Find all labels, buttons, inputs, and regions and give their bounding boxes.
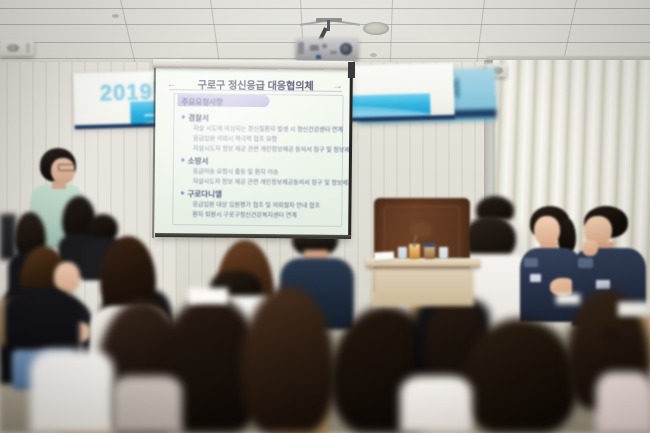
cup-lid <box>423 243 436 247</box>
iced-coffee-cup <box>424 245 435 259</box>
slide-bullet: 구로다니엘 <box>181 188 222 199</box>
hair-clip <box>602 330 618 337</box>
ceiling-projector <box>296 38 358 60</box>
officer-shoulder-patch <box>578 258 593 268</box>
meeting-room-photo: 운영회의 구로구정신건강복지센터 2019년 구 2 ← 구로구 정신응급 대응… <box>0 0 650 433</box>
attendee-torso <box>30 350 114 433</box>
slide-bullet: 자살시도자 정보 제공 관련 개인정보제공동의서 징구 및 정보제공 <box>193 176 352 187</box>
officer-badge <box>596 280 610 289</box>
screen-housing-cap <box>348 62 355 78</box>
officer-hand-at-chin <box>582 240 598 256</box>
presenter-glasses <box>58 164 75 171</box>
slide-bullet: 경찰서 <box>181 112 209 123</box>
slide-bullet: 응급입원 대상 입원평가 협조 및 의뢰절차 안내 협조 <box>192 199 320 209</box>
paper-sheet <box>556 294 580 304</box>
podium-front-panel <box>372 266 474 306</box>
slide-bullet: 응급입원 의뢰시 적극적 협조 요청 <box>193 133 277 143</box>
attendee-torso <box>112 376 182 433</box>
slide-bullet: 자살시도자 정보 제공 관련 개인정보제공 동의서 징구 및 정보제공 <box>193 143 352 154</box>
water-cup <box>398 247 407 259</box>
podium-crest <box>410 222 432 238</box>
ceiling-speaker-left <box>0 40 34 56</box>
slide-bullet: 소방서 <box>181 155 209 166</box>
side-monitor <box>0 214 16 260</box>
projection-screen: ← 구로구 정신응급 대응협의체 → 주요요청사항 경찰서 자살 시도에 의심되… <box>154 67 352 239</box>
ceiling-air-vent <box>363 22 389 35</box>
paper-sheet <box>374 251 394 260</box>
paper-sheet <box>618 302 650 316</box>
water-cup <box>439 247 448 259</box>
presenter-neck <box>52 181 66 189</box>
slide-bullet: 환자 퇴원시 구로구정신건강복지센터 연계 <box>192 209 296 219</box>
officer-shoulder-patch <box>524 258 538 267</box>
slide-section-header: 주요요청사항 <box>181 96 223 107</box>
projector-lens <box>340 43 352 55</box>
slide-bullet: 응급이송 요청시 출동 및 환자 이송 <box>193 166 279 176</box>
attendee-torso <box>596 372 650 433</box>
officer-badge <box>530 274 541 282</box>
notebook-page <box>188 288 228 304</box>
slide-bullet: 자살 시도에 의심되는 정신질환자 발생 시 정신건강센터 연계 <box>193 123 343 134</box>
officer-ponytail <box>558 218 576 252</box>
attendee-torso <box>400 376 472 433</box>
